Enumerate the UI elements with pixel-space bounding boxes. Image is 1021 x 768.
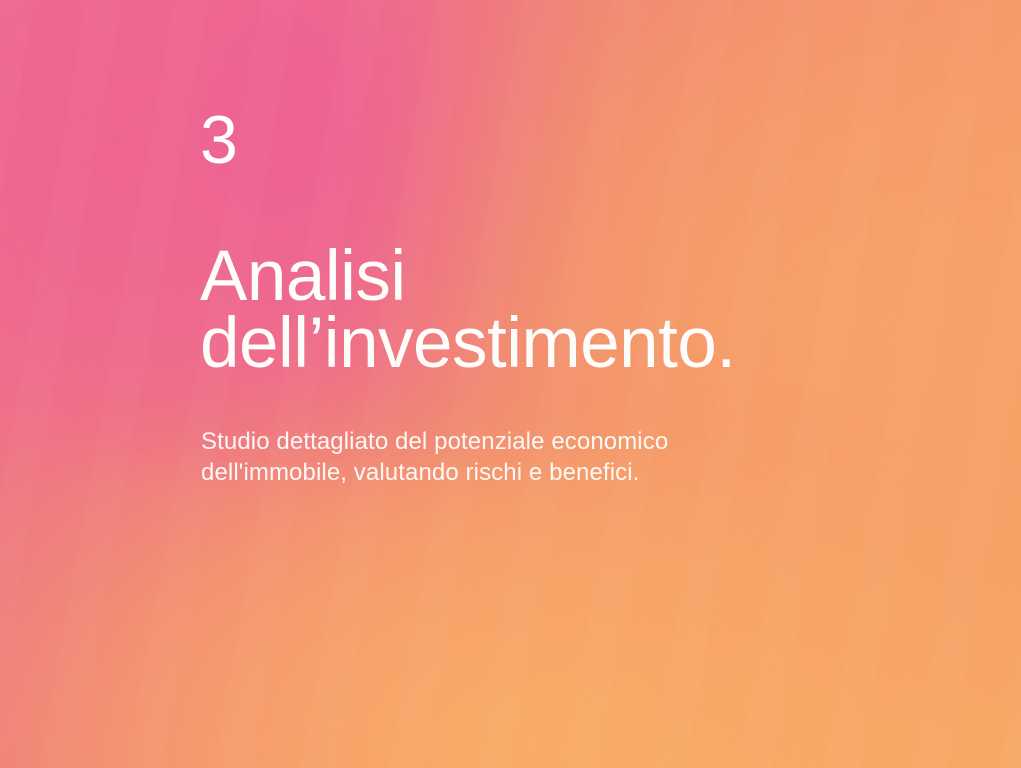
slide-subtitle: Studio dettagliato del potenziale econom…: [201, 426, 668, 488]
section-number: 3: [200, 106, 238, 174]
slide-content: 3 Analisi dell’investimento. Studio dett…: [200, 0, 900, 768]
page-title: Analisi dell’investimento.: [200, 243, 736, 377]
slide-canvas: 3 Analisi dell’investimento. Studio dett…: [0, 0, 1021, 768]
